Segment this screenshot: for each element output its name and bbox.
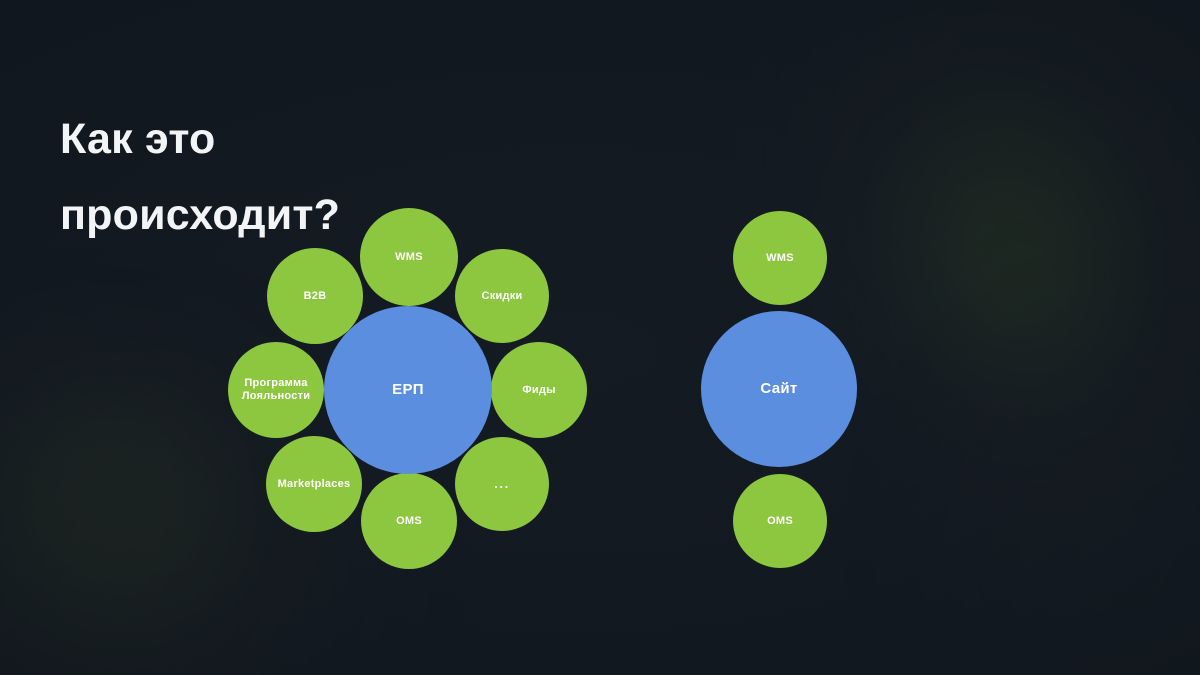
node-label: Marketplaces bbox=[278, 478, 351, 491]
erp-cluster-leaf-oms: OMS bbox=[361, 473, 457, 569]
node-label: OMS bbox=[767, 515, 793, 528]
node-label: Фиды bbox=[522, 384, 556, 397]
node-label: B2B bbox=[304, 290, 327, 303]
presentation-slide: Как это происходит? WMSB2BСкидкиПрограмм… bbox=[0, 0, 1200, 675]
node-label: Скидки bbox=[482, 290, 523, 303]
erp-cluster-hub-ерп: ЕРП bbox=[324, 306, 492, 474]
site-cluster-hub-сайт: Сайт bbox=[701, 311, 857, 467]
erp-cluster-leaf-wms: WMS bbox=[360, 208, 458, 306]
site-cluster-leaf-wms: WMS bbox=[733, 211, 827, 305]
erp-cluster-leaf-фиды: Фиды bbox=[491, 342, 587, 438]
node-label: OMS bbox=[396, 515, 422, 528]
erp-cluster-leaf-marketplaces: Marketplaces bbox=[266, 436, 362, 532]
node-label: WMS bbox=[395, 251, 423, 264]
node-label: ЕРП bbox=[392, 381, 424, 399]
cluster-diagram: WMSB2BСкидкиПрограмма ЛояльностиФидыMark… bbox=[0, 0, 1200, 675]
node-label: Сайт bbox=[760, 380, 797, 398]
erp-cluster-leaf-программа-лояльности: Программа Лояльности bbox=[228, 342, 324, 438]
node-label: ... bbox=[494, 476, 510, 491]
erp-cluster-leaf-скидки: Скидки bbox=[455, 249, 549, 343]
erp-cluster-leaf-node: ... bbox=[455, 437, 549, 531]
node-label: WMS bbox=[766, 252, 794, 265]
node-label: Программа Лояльности bbox=[242, 377, 310, 403]
site-cluster-leaf-oms: OMS bbox=[733, 474, 827, 568]
